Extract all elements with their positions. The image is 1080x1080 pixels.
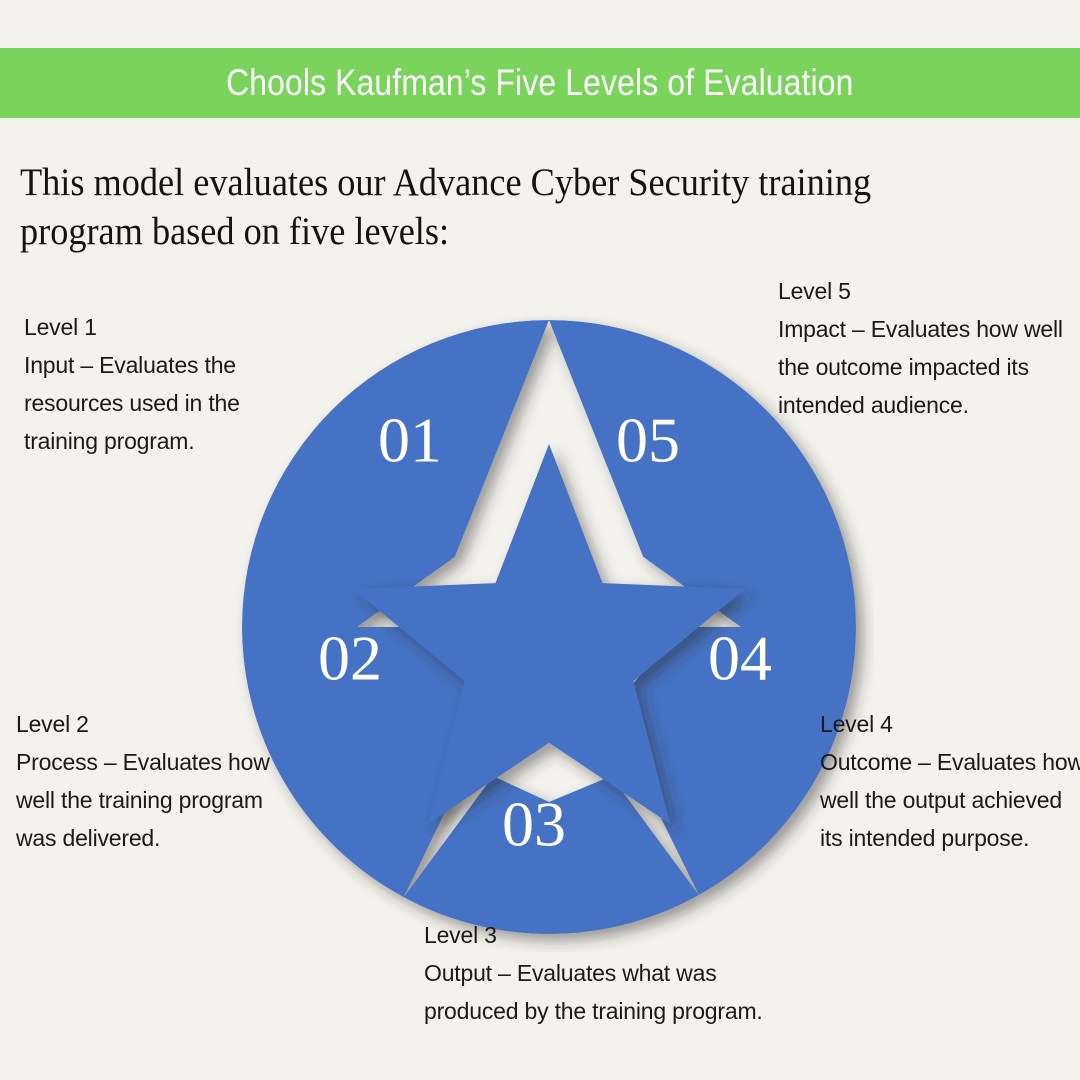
level-4-body: Outcome – Evaluates how well the output … — [820, 743, 1080, 857]
level-2-heading: Level 2 — [16, 705, 296, 743]
subtitle-text: This model evaluates our Advance Cyber S… — [20, 158, 959, 256]
header-banner: Chools Kaufman’s Five Levels of Evaluati… — [0, 48, 1080, 118]
level-3-heading: Level 3 — [424, 916, 804, 954]
segment-number-03: 03 — [502, 789, 566, 860]
level-1-heading: Level 1 — [24, 308, 314, 346]
level-2-caption: Level 2 Process – Evaluates how well the… — [16, 705, 296, 857]
infographic-canvas: Chools Kaufman’s Five Levels of Evaluati… — [0, 0, 1080, 1080]
level-1-caption: Level 1 Input – Evaluates the resources … — [24, 308, 314, 460]
level-5-heading: Level 5 — [778, 272, 1078, 310]
segment-number-04: 04 — [708, 623, 772, 694]
level-2-body: Process – Evaluates how well the trainin… — [16, 743, 296, 857]
level-3-body: Output – Evaluates what was produced by … — [424, 954, 804, 1030]
segment-number-02: 02 — [318, 623, 382, 694]
level-5-caption: Level 5 Impact – Evaluates how well the … — [778, 272, 1078, 424]
level-4-caption: Level 4 Outcome – Evaluates how well the… — [820, 705, 1080, 857]
page-title: Chools Kaufman’s Five Levels of Evaluati… — [226, 62, 853, 104]
level-5-body: Impact – Evaluates how well the outcome … — [778, 310, 1078, 424]
level-3-caption: Level 3 Output – Evaluates what was prod… — [424, 916, 804, 1030]
level-1-body: Input – Evaluates the resources used in … — [24, 346, 314, 460]
segment-number-05: 05 — [616, 405, 680, 476]
segment-number-01: 01 — [378, 405, 442, 476]
level-4-heading: Level 4 — [820, 705, 1080, 743]
